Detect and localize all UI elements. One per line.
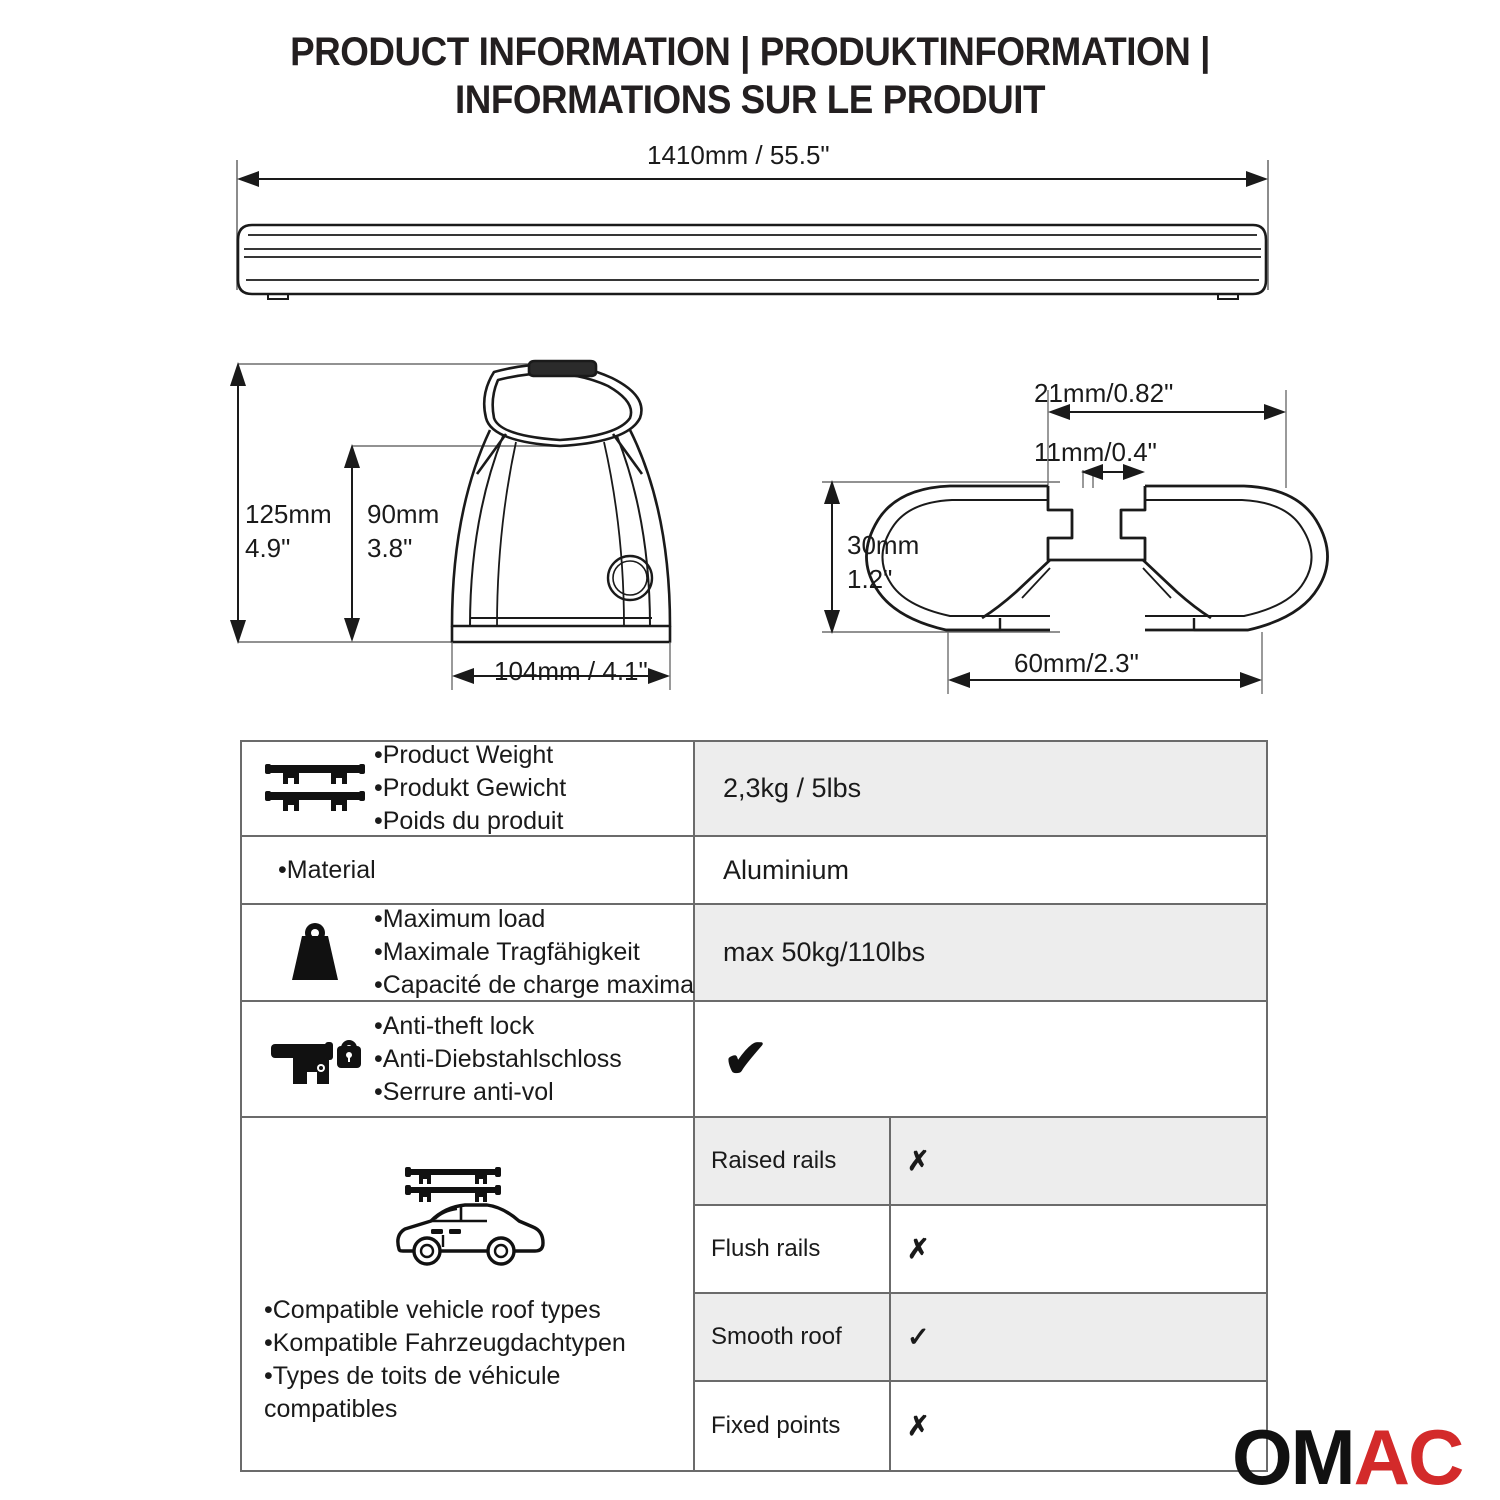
compat-row-flush-rails: Flush rails ✗	[695, 1206, 1266, 1294]
tower-inner-height-in: 3.8"	[367, 533, 412, 563]
compat-label-line: •Types de toits de véhicule compatibles	[264, 1360, 684, 1426]
spec-value-anti-theft: ✔	[695, 1002, 1266, 1116]
profile-height-mm: 30mm	[847, 530, 919, 560]
profile-width-label: 60mm/2.3"	[1014, 648, 1139, 679]
spec-label-line: •Product Weight	[374, 739, 566, 772]
weight-icon-glyph	[286, 922, 344, 984]
profile-height-in: 1.2"	[847, 564, 892, 594]
spec-label-line: •Poids du produit	[374, 805, 566, 838]
spec-label-text: •Anti-theft lock •Anti-Diebstahlschloss …	[374, 1010, 622, 1109]
spec-label-cell: •Maximum load •Maximale Tragfähigkeit •C…	[242, 905, 695, 1000]
tower-width-label: 104mm / 4.1"	[494, 656, 648, 687]
crossbars-icon-glyph	[263, 761, 367, 817]
cross-icon: ✗	[891, 1382, 1266, 1470]
spec-label-text: •Product Weight •Produkt Gewicht •Poids …	[374, 739, 566, 838]
lock-icon-glyph	[267, 1028, 363, 1090]
compat-option-name: Fixed points	[695, 1382, 891, 1470]
weight-icon	[256, 922, 374, 984]
spec-value-max-load: max 50kg/110lbs	[695, 905, 1266, 1000]
tower-outer-height-mm: 125mm	[245, 499, 332, 529]
omac-logo: OMAC	[1232, 1418, 1462, 1496]
spec-label-line: •Produkt Gewicht	[374, 772, 566, 805]
spec-label-text: •Maximum load •Maximale Tragfähigkeit •C…	[374, 903, 713, 1002]
spec-value-weight: 2,3kg / 5lbs	[695, 742, 1266, 835]
tower-outer-height-label: 125mm 4.9"	[245, 497, 332, 565]
car-with-crossbars-icon	[383, 1163, 553, 1280]
page-title: PRODUCT INFORMATION | PRODUKTINFORMATION…	[0, 28, 1500, 124]
tower-inner-height-mm: 90mm	[367, 499, 439, 529]
spec-label-cell: •Product Weight •Produkt Gewicht •Poids …	[242, 742, 695, 835]
specification-table: •Product Weight •Produkt Gewicht •Poids …	[240, 740, 1268, 1472]
compat-label-text: •Compatible vehicle roof types •Kompatib…	[250, 1294, 684, 1426]
compat-options-table: Raised rails ✗ Flush rails ✗ Smooth roof…	[695, 1118, 1266, 1470]
compat-label-line: •Kompatible Fahrzeugdachtypen	[264, 1327, 684, 1360]
spec-label-text: •Material	[256, 854, 376, 887]
spec-label-line: •Capacité de charge maximale	[374, 969, 713, 1002]
logo-red-text: AC	[1354, 1413, 1463, 1500]
compat-option-name: Flush rails	[695, 1206, 891, 1292]
spec-value-material: Aluminium	[695, 837, 1266, 903]
table-row-compatibility: •Compatible vehicle roof types •Kompatib…	[242, 1118, 1266, 1470]
table-row: •Anti-theft lock •Anti-Diebstahlschloss …	[242, 1002, 1266, 1118]
bar-length-label: 1410mm / 55.5"	[647, 140, 830, 171]
tower-inner-height-label: 90mm 3.8"	[367, 497, 439, 565]
table-row: •Product Weight •Produkt Gewicht •Poids …	[242, 742, 1266, 837]
title-line-1: PRODUCT INFORMATION | PRODUKTINFORMATION…	[60, 28, 1440, 76]
compat-label-cell: •Compatible vehicle roof types •Kompatib…	[242, 1118, 695, 1470]
compat-option-name: Smooth roof	[695, 1294, 891, 1380]
spec-label-line: •Material	[278, 854, 376, 887]
title-line-2: INFORMATIONS SUR LE PRODUIT	[60, 76, 1440, 124]
spec-label-line: •Anti-theft lock	[374, 1010, 622, 1043]
cross-icon: ✗	[891, 1118, 1266, 1204]
car-with-crossbars-icon-glyph	[383, 1163, 553, 1275]
compat-row-smooth-roof: Smooth roof ✓	[695, 1294, 1266, 1382]
tower-outer-height-in: 4.9"	[245, 533, 290, 563]
logo-dark-text: OM	[1232, 1413, 1354, 1500]
profile-slot-inner-label: 11mm/0.4"	[1034, 437, 1157, 468]
spec-label-cell: •Material	[242, 837, 695, 903]
table-row: •Material Aluminium	[242, 837, 1266, 905]
profile-slot-outer-label: 21mm/0.82"	[1034, 378, 1173, 409]
table-row: •Maximum load •Maximale Tragfähigkeit •C…	[242, 905, 1266, 1002]
spec-label-line: •Maximum load	[374, 903, 713, 936]
product-information-page: PRODUCT INFORMATION | PRODUKTINFORMATION…	[0, 0, 1500, 1500]
crossbars-icon	[256, 761, 374, 817]
compat-label-line: •Compatible vehicle roof types	[264, 1294, 684, 1327]
spec-label-line: •Anti-Diebstahlschloss	[374, 1043, 622, 1076]
lock-icon	[256, 1028, 374, 1090]
profile-height-label: 30mm 1.2"	[847, 528, 919, 596]
checkmark-icon: ✓	[891, 1294, 1266, 1380]
checkmark-icon: ✔	[723, 1032, 768, 1086]
compat-row-fixed-points: Fixed points ✗	[695, 1382, 1266, 1470]
cross-icon: ✗	[891, 1206, 1266, 1292]
compat-option-name: Raised rails	[695, 1118, 891, 1204]
spec-label-cell: •Anti-theft lock •Anti-Diebstahlschloss …	[242, 1002, 695, 1116]
spec-label-line: •Serrure anti-vol	[374, 1076, 622, 1109]
compat-row-raised-rails: Raised rails ✗	[695, 1118, 1266, 1206]
spec-label-line: •Maximale Tragfähigkeit	[374, 936, 713, 969]
